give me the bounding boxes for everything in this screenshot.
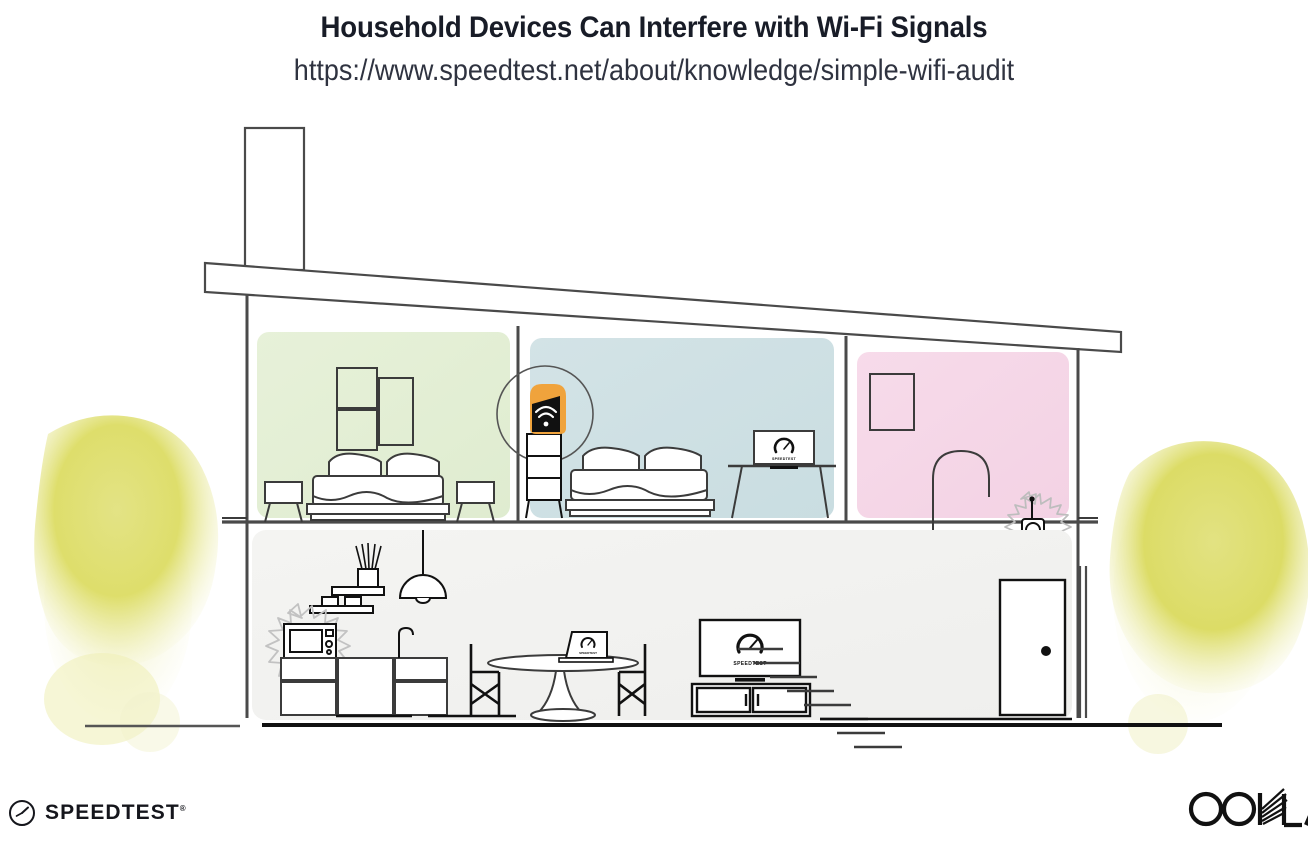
door-knob [1041,646,1051,656]
ookla-logo: ™ [1184,787,1308,829]
room-bedroom-green [222,332,510,522]
laptop-screen-logo: SPEEDTEST [579,651,597,655]
computer-monitor: SPEEDTEST [754,431,814,469]
header: Household Devices Can Interfere with Wi-… [0,0,1308,89]
tree-right [1110,441,1308,754]
room-bedroom-blue: SPEEDTEST [497,338,836,518]
front-door [1000,580,1065,715]
house-cutaway-illustration: SPEEDTEST [0,104,1308,754]
microwave [284,624,336,658]
source-url: https://www.speedtest.net/about/knowledg… [65,47,1242,90]
kitchen-counter [281,658,447,715]
bed-blue [566,448,714,516]
footer: SPEEDTEST® ™ [0,761,1308,861]
speedtest-logo: SPEEDTEST® [8,799,186,827]
infographic-page: Household Devices Can Interfere with Wi-… [0,0,1308,861]
wifi-router [530,384,566,434]
speedtest-trademark: ® [180,804,186,813]
room-living-kitchen: SPEEDTEST [252,530,1072,754]
tree-left [34,415,218,752]
chimney [245,128,304,270]
speedometer-icon [8,799,36,827]
monitor-screen-logo: SPEEDTEST [772,457,797,461]
bed-green [307,454,449,520]
speedtest-wordmark: SPEEDTEST® [45,801,186,825]
page-title: Household Devices Can Interfere with Wi-… [52,0,1255,47]
speedtest-wordmark-text: SPEEDTEST [45,801,180,824]
television: SPEEDTEST [700,620,800,682]
media-console [692,684,810,716]
ookla-wordmark: ™ [1184,787,1308,829]
